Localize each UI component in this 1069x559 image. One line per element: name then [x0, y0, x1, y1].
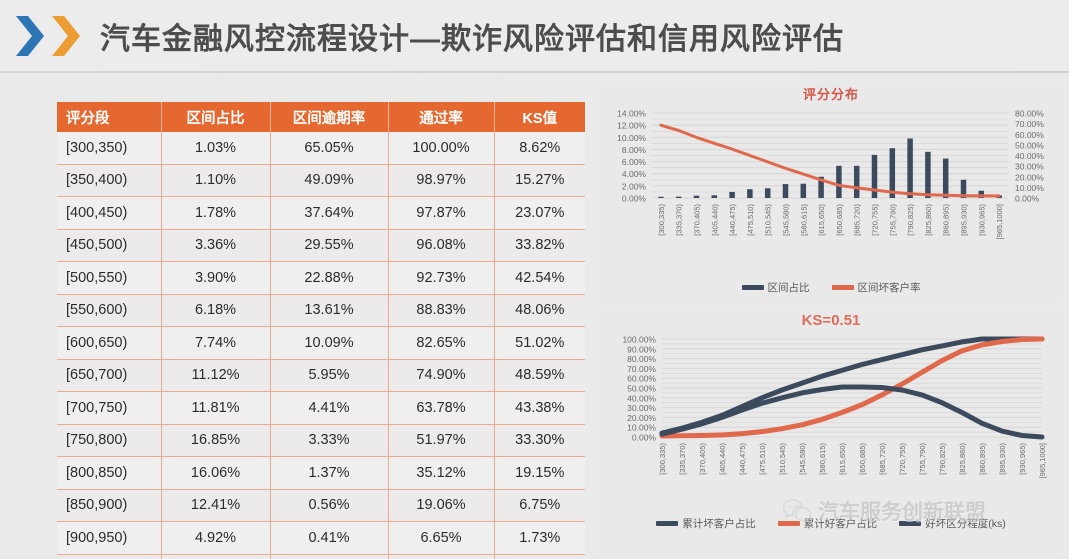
- cell-interval-share: 1.78%: [161, 197, 270, 230]
- cell-score-band: [650,700): [57, 359, 161, 392]
- cell-interval-share: 1.10%: [161, 164, 270, 197]
- cell-score-band: [850,900): [57, 489, 161, 522]
- cell-ks-value: 15.27%: [494, 164, 585, 197]
- svg-text:[685,720): [685,720): [853, 204, 862, 236]
- cell-interval-overdue-rate: 37.64%: [270, 197, 388, 230]
- legend-swatch: [899, 521, 921, 526]
- svg-text:70.00%: 70.00%: [627, 364, 656, 374]
- table-header-row: 评分段 区间占比 区间逾期率 通过率 KS值: [57, 102, 585, 132]
- cell-score-band: [350,400): [57, 164, 161, 197]
- cell-score-band: [800,850): [57, 457, 161, 490]
- header-divider: [0, 71, 1069, 73]
- svg-text:[300,335): [300,335): [658, 443, 667, 475]
- cell-ks-value: 33.82%: [494, 229, 585, 262]
- svg-text:[650,685): [650,685): [858, 443, 867, 475]
- slide-header: 汽车金融风控流程设计—欺诈风险评估和信用风险评估: [0, 0, 1069, 72]
- table-body: [300,350)1.03%65.05%100.00%8.62%[350,400…: [57, 132, 585, 559]
- cell-interval-share: 11.12%: [161, 359, 270, 392]
- svg-text:[755,790): [755,790): [888, 204, 897, 236]
- svg-text:[755,790): [755,790): [918, 443, 927, 475]
- table-row: [350,400)1.10%49.09%98.97%15.27%: [57, 164, 585, 197]
- score-distribution-plot: 0.00%2.00%4.00%6.00%8.00%10.00%12.00%14.…: [600, 103, 1062, 278]
- svg-text:[895,930): [895,930): [998, 443, 1007, 475]
- cell-score-band: [400,450): [57, 197, 161, 230]
- bar-11: [854, 166, 860, 198]
- cell-interval-overdue-rate: 0.41%: [270, 522, 388, 555]
- cell-ks-value: 48.59%: [494, 359, 585, 392]
- svg-text:[580,615): [580,615): [799, 204, 808, 236]
- svg-text:8.00%: 8.00%: [622, 145, 647, 155]
- bar-6: [765, 188, 771, 198]
- cell-interval-share: 1.73%: [161, 554, 270, 559]
- cell-interval-overdue-rate: 65.05%: [270, 132, 388, 164]
- cell-ks-value: 0.00%: [494, 554, 585, 559]
- svg-text:20.00%: 20.00%: [627, 413, 656, 423]
- svg-text:[405,440): [405,440): [710, 204, 719, 236]
- legend-item: 累计好客户占比: [778, 516, 878, 531]
- table-row: [400,450)1.78%37.64%97.87%23.07%: [57, 197, 585, 230]
- svg-text:90.00%: 90.00%: [627, 344, 656, 354]
- svg-text:80.00%: 80.00%: [1015, 109, 1044, 119]
- ks-curve-title: KS=0.51: [600, 312, 1062, 329]
- cell-interval-share: 1.03%: [161, 132, 270, 164]
- cell-pass-rate: 98.97%: [388, 164, 494, 197]
- svg-text:30.00%: 30.00%: [627, 403, 656, 413]
- slide-root: 汽车金融风控流程设计—欺诈风险评估和信用风险评估 评分段 区间占比 区间逾期率 …: [0, 0, 1069, 559]
- svg-text:50.00%: 50.00%: [1015, 140, 1044, 150]
- cell-interval-share: 6.18%: [161, 294, 270, 327]
- chevron-right-orange-icon: [50, 14, 84, 58]
- bar-14: [907, 139, 913, 199]
- svg-text:6.00%: 6.00%: [622, 157, 647, 167]
- legend-item: 好坏区分程度(ks): [899, 516, 1006, 531]
- table-row: [800,850)16.06%1.37%35.12%19.15%: [57, 457, 585, 490]
- ks-curve-plot: 0.00%10.00%20.00%30.00%40.00%50.00%60.00…: [600, 329, 1062, 514]
- table-row: [550,600)6.18%13.61%88.83%48.06%: [57, 294, 585, 327]
- bar-3: [712, 195, 718, 198]
- svg-text:40.00%: 40.00%: [627, 393, 656, 403]
- cell-ks-value: 19.15%: [494, 457, 585, 490]
- svg-text:[930,965): [930,965): [977, 204, 986, 236]
- cell-interval-share: 11.81%: [161, 392, 270, 425]
- bar-10: [836, 166, 842, 198]
- svg-text:[440,475): [440,475): [738, 443, 747, 475]
- cell-ks-value: 43.38%: [494, 392, 585, 425]
- cell-pass-rate: 97.87%: [388, 197, 494, 230]
- svg-text:10.00%: 10.00%: [627, 423, 656, 433]
- cell-interval-overdue-rate: 49.09%: [270, 164, 388, 197]
- svg-text:50.00%: 50.00%: [627, 384, 656, 394]
- table-row: [450,500)3.36%29.55%96.08%33.82%: [57, 229, 585, 262]
- cell-interval-share: 4.92%: [161, 522, 270, 555]
- score-band-table: 评分段 区间占比 区间逾期率 通过率 KS值 [300,350)1.03%65.…: [57, 102, 585, 559]
- cell-score-band: [600,650): [57, 327, 161, 360]
- svg-text:2.00%: 2.00%: [622, 181, 647, 191]
- cell-interval-overdue-rate: 22.88%: [270, 262, 388, 295]
- bar-4: [729, 192, 735, 198]
- svg-text:60.00%: 60.00%: [627, 374, 656, 384]
- table-row: [600,650)7.74%10.09%82.65%51.02%: [57, 327, 585, 360]
- svg-text:0.00%: 0.00%: [632, 433, 657, 443]
- cell-interval-share: 3.90%: [161, 262, 270, 295]
- cell-score-band: [950,1000]: [57, 554, 161, 559]
- bar-7: [783, 184, 789, 198]
- svg-text:[790,825): [790,825): [938, 443, 947, 475]
- cell-pass-rate: 100.00%: [388, 132, 494, 164]
- svg-text:[825,860): [825,860): [924, 204, 933, 236]
- svg-text:0.00%: 0.00%: [1015, 194, 1040, 204]
- svg-text:[335,370): [335,370): [678, 443, 687, 475]
- cell-interval-overdue-rate: 1.37%: [270, 457, 388, 490]
- bar-2: [694, 196, 700, 198]
- column-header-interval-share: 区间占比: [161, 102, 270, 132]
- svg-text:[965,1000]: [965,1000]: [995, 204, 1004, 239]
- cell-ks-value: 51.02%: [494, 327, 585, 360]
- legend-swatch: [832, 285, 854, 290]
- cell-ks-value: 23.07%: [494, 197, 585, 230]
- bar-5: [747, 189, 753, 198]
- svg-text:[615,650): [615,650): [817, 204, 826, 236]
- svg-text:14.00%: 14.00%: [617, 109, 646, 119]
- cell-pass-rate: 51.97%: [388, 424, 494, 457]
- bar-15: [925, 152, 931, 198]
- cell-interval-overdue-rate: 29.55%: [270, 229, 388, 262]
- cell-ks-value: 8.62%: [494, 132, 585, 164]
- cell-interval-overdue-rate: 3.33%: [270, 424, 388, 457]
- svg-text:60.00%: 60.00%: [1015, 130, 1044, 140]
- cell-interval-overdue-rate: 10.09%: [270, 327, 388, 360]
- svg-text:[580,615): [580,615): [818, 443, 827, 475]
- svg-text:80.00%: 80.00%: [627, 354, 656, 364]
- svg-text:[860,895): [860,895): [942, 204, 951, 236]
- table-row: [750,800)16.85%3.33%51.97%33.30%: [57, 424, 585, 457]
- svg-text:[475,510): [475,510): [758, 443, 767, 475]
- svg-text:[895,930): [895,930): [960, 204, 969, 236]
- cell-interval-overdue-rate: 0.56%: [270, 489, 388, 522]
- svg-text:[615,650): [615,650): [838, 443, 847, 475]
- svg-text:[510,545): [510,545): [778, 443, 787, 475]
- table-row: [500,550)3.90%22.88%92.73%42.54%: [57, 262, 585, 295]
- cell-score-band: [300,350): [57, 132, 161, 164]
- cell-interval-share: 3.36%: [161, 229, 270, 262]
- chevron-logo: [14, 14, 86, 58]
- cell-ks-value: 42.54%: [494, 262, 585, 295]
- svg-text:[300,335): [300,335): [657, 204, 666, 236]
- legend-label: 累计坏客户占比: [682, 516, 756, 531]
- svg-text:[720,755): [720,755): [871, 204, 880, 236]
- table-row: [850,900)12.41%0.56%19.06%6.75%: [57, 489, 585, 522]
- cell-pass-rate: 82.65%: [388, 327, 494, 360]
- svg-text:[720,755): [720,755): [898, 443, 907, 475]
- cell-interval-share: 7.74%: [161, 327, 270, 360]
- column-header-interval-overdue-rate: 区间逾期率: [270, 102, 388, 132]
- cell-ks-value: 1.73%: [494, 522, 585, 555]
- cell-pass-rate: 96.08%: [388, 229, 494, 262]
- cell-score-band: [900,950): [57, 522, 161, 555]
- cell-score-band: [500,550): [57, 262, 161, 295]
- svg-text:30.00%: 30.00%: [1015, 162, 1044, 172]
- svg-text:10.00%: 10.00%: [617, 133, 646, 143]
- legend-label: 好坏区分程度(ks): [925, 516, 1006, 531]
- legend-item: 累计坏客户占比: [656, 516, 756, 531]
- cell-interval-overdue-rate: 13.61%: [270, 294, 388, 327]
- table-row: [950,1000]1.73%0.58%1.73%0.00%: [57, 554, 585, 559]
- score-band-table-container: 评分段 区间占比 区间逾期率 通过率 KS值 [300,350)1.03%65.…: [57, 102, 585, 559]
- cell-score-band: [700,750): [57, 392, 161, 425]
- svg-text:0.00%: 0.00%: [622, 194, 647, 204]
- legend-label: 区间占比: [768, 280, 810, 295]
- table-row: [300,350)1.03%65.05%100.00%8.62%: [57, 132, 585, 164]
- cell-interval-share: 16.85%: [161, 424, 270, 457]
- cell-interval-share: 16.06%: [161, 457, 270, 490]
- svg-text:4.00%: 4.00%: [622, 169, 647, 179]
- svg-text:[685,720): [685,720): [878, 443, 887, 475]
- legend-item: 区间坏客户率: [832, 280, 921, 295]
- svg-text:[825,860): [825,860): [958, 443, 967, 475]
- chevron-right-blue-icon: [14, 14, 48, 58]
- cell-pass-rate: 63.78%: [388, 392, 494, 425]
- page-title: 汽车金融风控流程设计—欺诈风险评估和信用风险评估: [100, 14, 844, 58]
- legend-swatch: [778, 521, 800, 526]
- bar-8: [801, 184, 807, 198]
- svg-text:100.00%: 100.00%: [622, 335, 656, 345]
- svg-text:[440,475): [440,475): [728, 204, 737, 236]
- score-distribution-title: 评分分布: [600, 84, 1062, 103]
- svg-text:[860,895): [860,895): [978, 443, 987, 475]
- svg-text:[335,370): [335,370): [675, 204, 684, 236]
- legend-item: 区间占比: [742, 280, 810, 295]
- cell-pass-rate: 74.90%: [388, 359, 494, 392]
- ks-curve-legend: 累计坏客户占比累计好客户占比好坏区分程度(ks): [600, 516, 1062, 531]
- svg-text:10.00%: 10.00%: [1015, 183, 1044, 193]
- cell-pass-rate: 35.12%: [388, 457, 494, 490]
- svg-text:[510,545): [510,545): [764, 204, 773, 236]
- line-series-2: [662, 387, 1042, 437]
- table-row: [650,700)11.12%5.95%74.90%48.59%: [57, 359, 585, 392]
- legend-swatch: [742, 285, 764, 290]
- legend-label: 累计好客户占比: [804, 516, 878, 531]
- column-header-score-band: 评分段: [57, 102, 161, 132]
- cell-interval-overdue-rate: 0.58%: [270, 554, 388, 559]
- column-header-pass-rate: 通过率: [388, 102, 494, 132]
- cell-score-band: [450,500): [57, 229, 161, 262]
- svg-text:[475,510): [475,510): [746, 204, 755, 236]
- cell-interval-overdue-rate: 4.41%: [270, 392, 388, 425]
- svg-text:[405,440): [405,440): [718, 443, 727, 475]
- cell-score-band: [550,600): [57, 294, 161, 327]
- bar-16: [943, 159, 949, 198]
- score-distribution-chart: 评分分布 0.00%2.00%4.00%6.00%8.00%10.00%12.0…: [600, 84, 1062, 302]
- bar-1: [676, 197, 682, 198]
- svg-text:40.00%: 40.00%: [1015, 151, 1044, 161]
- svg-text:[930,965): [930,965): [1018, 443, 1027, 475]
- svg-text:20.00%: 20.00%: [1015, 172, 1044, 182]
- cell-pass-rate: 92.73%: [388, 262, 494, 295]
- table-row: [700,750)11.81%4.41%63.78%43.38%: [57, 392, 585, 425]
- cell-pass-rate: 1.73%: [388, 554, 494, 559]
- svg-text:[545,580): [545,580): [782, 204, 791, 236]
- score-distribution-legend: 区间占比区间坏客户率: [600, 280, 1062, 295]
- svg-text:[545,580): [545,580): [798, 443, 807, 475]
- cell-interval-share: 12.41%: [161, 489, 270, 522]
- svg-text:[650,685): [650,685): [835, 204, 844, 236]
- svg-text:12.00%: 12.00%: [617, 121, 646, 131]
- table-row: [900,950)4.92%0.41%6.65%1.73%: [57, 522, 585, 555]
- svg-text:70.00%: 70.00%: [1015, 119, 1044, 129]
- legend-label: 区间坏客户率: [858, 280, 921, 295]
- cell-ks-value: 6.75%: [494, 489, 585, 522]
- cell-pass-rate: 19.06%: [388, 489, 494, 522]
- legend-swatch: [656, 521, 678, 526]
- cell-ks-value: 48.06%: [494, 294, 585, 327]
- svg-text:[965,1000]: [965,1000]: [1038, 443, 1047, 478]
- svg-text:[370,405): [370,405): [698, 443, 707, 475]
- ks-curve-chart: KS=0.51 0.00%10.00%20.00%30.00%40.00%50.…: [600, 312, 1062, 554]
- svg-text:[790,825): [790,825): [906, 204, 915, 236]
- cell-interval-overdue-rate: 5.95%: [270, 359, 388, 392]
- plot-area: 0.00%2.00%4.00%6.00%8.00%10.00%12.00%14.…: [617, 109, 1044, 240]
- cell-score-band: [750,800): [57, 424, 161, 457]
- column-header-ks-value: KS值: [494, 102, 585, 132]
- cell-ks-value: 33.30%: [494, 424, 585, 457]
- plot-area: 0.00%10.00%20.00%30.00%40.00%50.00%60.00…: [622, 335, 1047, 479]
- bar-0: [658, 197, 664, 198]
- svg-text:[370,405): [370,405): [693, 204, 702, 236]
- cell-pass-rate: 6.65%: [388, 522, 494, 555]
- cell-pass-rate: 88.83%: [388, 294, 494, 327]
